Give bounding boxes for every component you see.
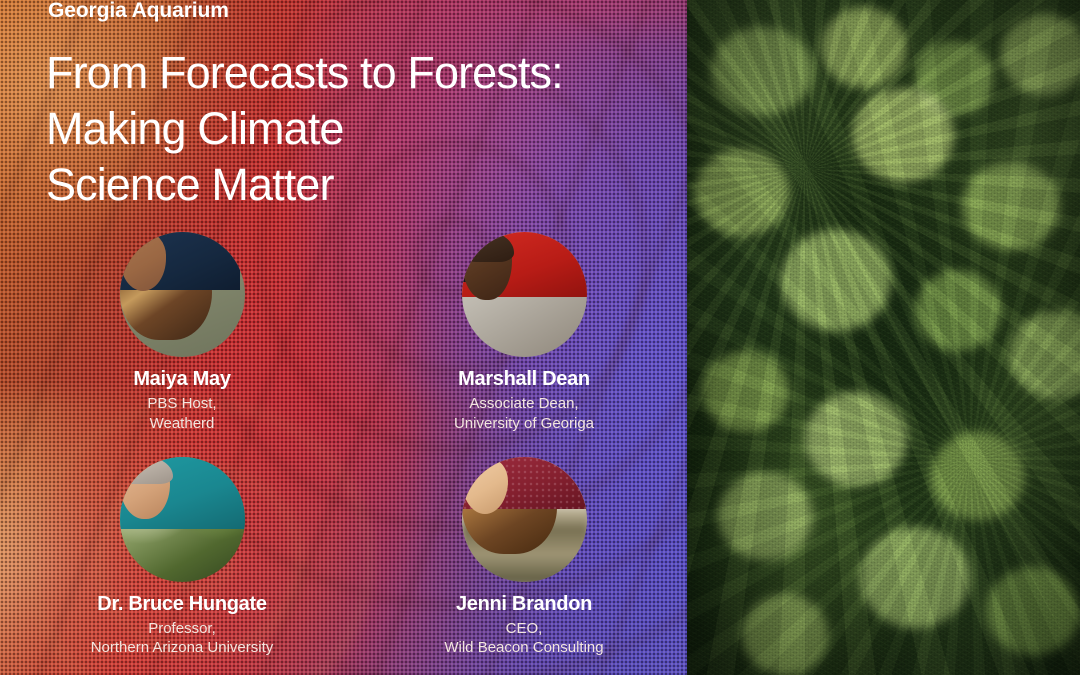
speaker-card-bruce-hungate: Dr. Bruce Hungate Professor, Northern Ar… — [22, 457, 342, 659]
speaker-grid: Maiya May PBS Host, Weatherd Marshall De… — [0, 232, 687, 658]
speaker-name: Maiya May — [133, 368, 230, 391]
brand-logo-text: Georgia Aquarium — [48, 0, 229, 24]
speaker-row: Dr. Bruce Hungate Professor, Northern Ar… — [0, 457, 687, 659]
event-promo-poster: Georgia Aquarium From Forecasts to Fores… — [0, 0, 1080, 675]
avatar — [120, 232, 245, 357]
speaker-card-marshall-dean: Marshall Dean Associate Dean, University… — [364, 232, 684, 434]
speaker-name: Jenni Brandon — [456, 593, 592, 616]
avatar — [462, 232, 587, 357]
speaker-role: Professor, Northern Arizona University — [91, 619, 274, 659]
avatar — [462, 457, 587, 582]
forest-photo-panel — [687, 0, 1080, 675]
speaker-card-maiya-may: Maiya May PBS Host, Weatherd — [22, 232, 342, 434]
page-title: From Forecasts to Forests: Making Climat… — [46, 45, 646, 212]
speaker-role: Associate Dean, University of Georiga — [454, 394, 594, 434]
portrait-face — [120, 232, 166, 291]
speaker-name: Dr. Bruce Hungate — [97, 593, 266, 616]
speaker-role: PBS Host, Weatherd — [147, 394, 216, 434]
speaker-card-jenni-brandon: Jenni Brandon CEO, Wild Beacon Consultin… — [364, 457, 684, 659]
speaker-row: Maiya May PBS Host, Weatherd Marshall De… — [0, 232, 687, 434]
speaker-name: Marshall Dean — [458, 368, 590, 391]
photo-grain — [687, 0, 1080, 675]
avatar — [120, 457, 245, 582]
speaker-role: CEO, Wild Beacon Consulting — [444, 619, 603, 659]
